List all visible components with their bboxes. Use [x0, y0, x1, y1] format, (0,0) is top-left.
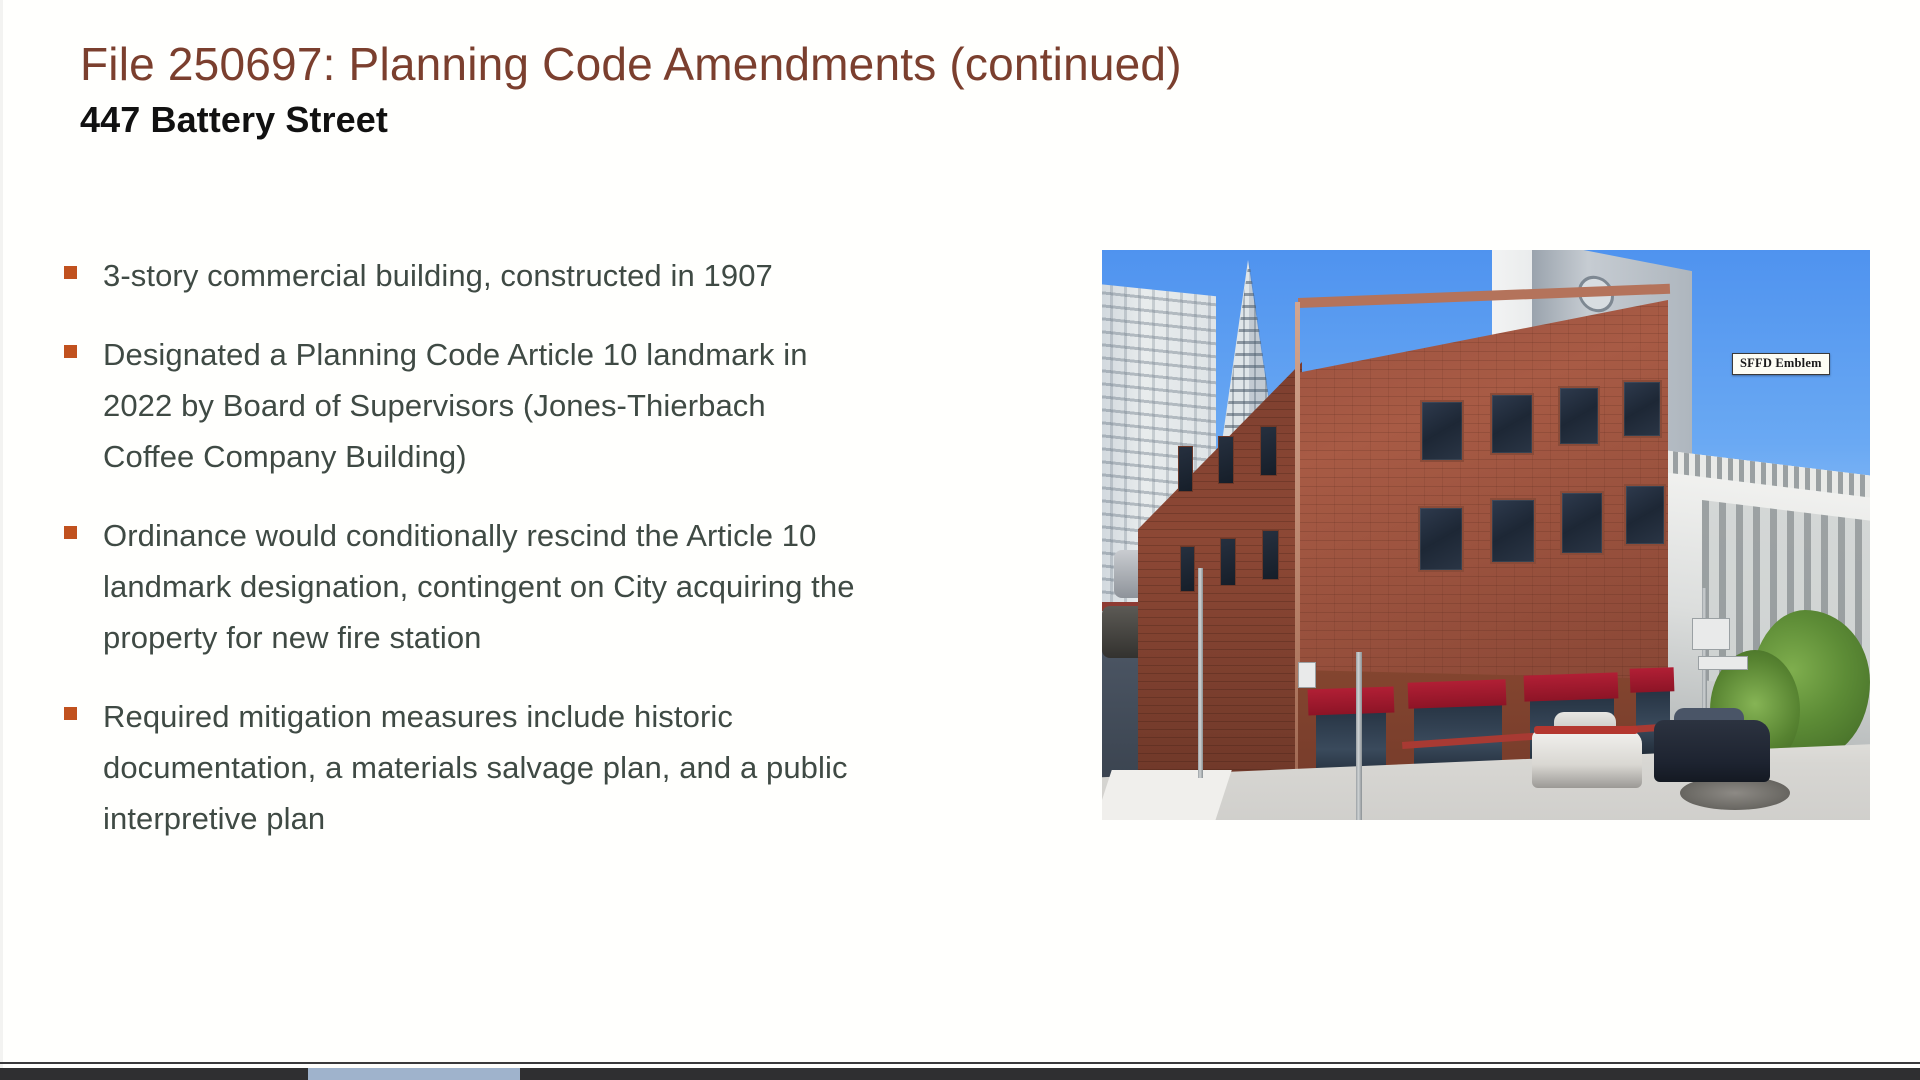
awning: [1524, 672, 1619, 701]
window: [1622, 380, 1662, 438]
slide-left-edge: [0, 0, 3, 1068]
street-pole: [1198, 568, 1203, 778]
crosswalk-marking: [1102, 770, 1232, 820]
bullet-text: Required mitigation measures include his…: [103, 691, 864, 844]
street-view-image: SFFD Emblem: [1102, 250, 1870, 820]
window: [1490, 393, 1534, 455]
parked-car: [1532, 730, 1642, 788]
window: [1262, 530, 1279, 580]
parking-sign: [1298, 662, 1316, 688]
bullet-square-icon: [64, 526, 77, 539]
awning: [1408, 679, 1507, 708]
window: [1218, 436, 1234, 484]
window-bottom-edge: [0, 1062, 1920, 1064]
bullet-text: Ordinance would conditionally rescind th…: [103, 510, 864, 663]
bullet-square-icon: [64, 707, 77, 720]
window: [1260, 426, 1277, 476]
page-subtitle: 447 Battery Street: [80, 96, 1580, 144]
horizontal-scrollbar-thumb[interactable]: [308, 1068, 520, 1080]
window: [1558, 386, 1600, 446]
window: [1490, 498, 1536, 564]
street-sign: [1692, 618, 1730, 650]
slide-heading: File 250697: Planning Code Amendments (c…: [80, 36, 1580, 144]
horizontal-scrollbar-track[interactable]: [0, 1068, 1920, 1080]
list-item: 3-story commercial building, constructed…: [64, 250, 864, 301]
window: [1180, 546, 1195, 592]
list-item: Required mitigation measures include his…: [64, 691, 864, 844]
parked-car: [1654, 720, 1770, 782]
bullet-square-icon: [64, 345, 77, 358]
bullet-text: 3-story commercial building, constructed…: [103, 250, 864, 301]
sffd-emblem-annotation[interactable]: SFFD Emblem: [1732, 353, 1830, 375]
page-title: File 250697: Planning Code Amendments (c…: [80, 36, 1580, 92]
bullet-list: 3-story commercial building, constructed…: [64, 250, 864, 872]
list-item: Designated a Planning Code Article 10 la…: [64, 329, 864, 482]
street-name-sign: [1698, 656, 1748, 670]
street-pole: [1356, 652, 1362, 820]
window: [1178, 446, 1193, 492]
awning: [1308, 687, 1395, 716]
bullet-square-icon: [64, 266, 77, 279]
window: [1624, 484, 1666, 546]
window: [1418, 506, 1464, 572]
parked-car-trim: [1534, 726, 1638, 734]
slide-canvas: File 250697: Planning Code Amendments (c…: [0, 0, 1920, 1068]
bullet-text: Designated a Planning Code Article 10 la…: [103, 329, 864, 482]
window: [1560, 491, 1604, 555]
list-item: Ordinance would conditionally rescind th…: [64, 510, 864, 663]
awning: [1630, 667, 1675, 693]
building-photo: SFFD Emblem: [1102, 250, 1870, 820]
window: [1420, 400, 1464, 462]
window: [1220, 538, 1236, 586]
